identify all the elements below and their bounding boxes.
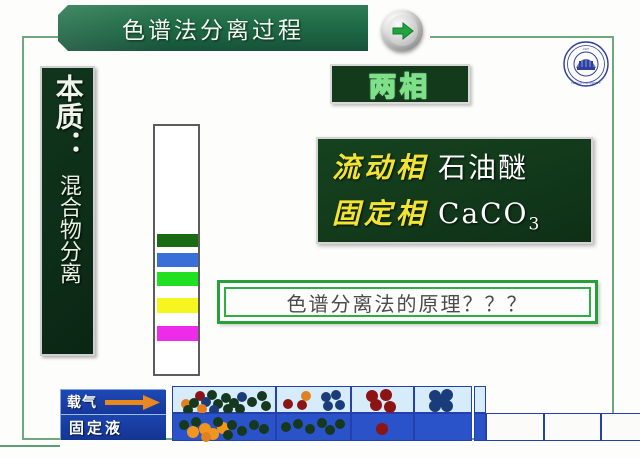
empty-cell-3: [486, 413, 544, 441]
phase-value-stationary: CaCO3: [438, 197, 541, 235]
next-slide-button[interactable]: [382, 10, 423, 51]
empty-cell-4: [544, 413, 601, 441]
essence-box: 本质： 混合物分离: [40, 66, 95, 356]
analyte-particle: [380, 389, 392, 401]
legend-stationary-liquid: 固定液: [61, 415, 166, 440]
phase-value-mobile: 石油醚: [438, 146, 528, 186]
legend-carrier-gas-label: 载气: [67, 392, 97, 412]
analyte-particle: [237, 392, 247, 402]
analyte-particle: [305, 424, 315, 434]
band-blue: [157, 253, 198, 267]
cell-3-mobile-phase: [351, 386, 414, 413]
two-phase-label: 两相: [369, 65, 431, 104]
svg-text:1907: 1907: [583, 47, 590, 51]
analyte-particle: [335, 419, 345, 429]
flow-arrow-icon: [105, 393, 161, 412]
next-button-face: [387, 15, 418, 46]
analyte-particle: [370, 399, 382, 411]
essence-body: 混合物分离: [55, 174, 80, 284]
seal-caption: TONGJI UNIVERSITY: [571, 81, 602, 85]
analyte-particle: [261, 401, 271, 411]
band-magenta: [157, 326, 198, 341]
university-seal-logo: 1907 TONGJI UNIVERSITY: [562, 40, 610, 88]
arrow-right-icon: [392, 21, 414, 41]
empty-cell-5: [601, 413, 640, 441]
legend-stationary-liquid-label: 固定液: [69, 417, 123, 438]
band-dark-green: [157, 234, 198, 247]
phase-row-mobile: 流动相 石油醚: [332, 146, 577, 186]
analyte-particle: [223, 430, 233, 440]
analyte-particle: [331, 390, 341, 400]
analyte-particle: [297, 400, 307, 410]
cell-3-stationary-phase: [351, 413, 414, 441]
analyte-particle: [249, 420, 259, 430]
essence-heading: 本质：: [53, 74, 82, 158]
phase-name-stationary: 固定相: [332, 192, 428, 232]
analyte-particle: [325, 425, 335, 435]
analyte-particle: [187, 426, 199, 438]
analyte-particle: [376, 423, 388, 435]
analyte-particle: [435, 395, 447, 407]
band-yellow: [157, 298, 198, 313]
analyte-particle: [227, 420, 237, 430]
band-bright-green: [157, 272, 198, 286]
legend-carrier-gas: 载气: [61, 390, 166, 415]
analyte-particle: [384, 401, 396, 413]
question-box: 色谱分离法的原理？？？: [217, 280, 598, 324]
phase-name-mobile: 流动相: [332, 146, 428, 186]
analyte-particle: [257, 391, 267, 401]
analyte-particle: [283, 399, 293, 409]
analyte-particle: [259, 424, 269, 434]
question-text: 色谱分离法的原理？？？: [287, 288, 529, 317]
analyte-particle: [213, 417, 223, 427]
analyte-particle: [293, 419, 303, 429]
analyte-particle: [323, 401, 333, 411]
cell-1-mobile-phase: [172, 386, 276, 413]
phases-board: 流动相 石油醚 固定相 CaCO3: [316, 137, 593, 244]
legend-block: 载气 固定液: [60, 389, 165, 439]
bottom-diagram: 载气 固定液: [0, 380, 640, 458]
analyte-particle: [237, 426, 247, 436]
cell-2-mobile-phase: [276, 386, 351, 413]
slide-frame-top-right-rule: [430, 36, 614, 38]
chromatography-column: [153, 124, 200, 376]
formula-base: CaCO: [438, 197, 529, 230]
baseline-rule: [0, 445, 60, 447]
analyte-particle: [335, 400, 345, 410]
two-phase-box: 两相: [330, 64, 470, 104]
question-box-inner: 色谱分离法的原理？？？: [224, 287, 591, 317]
analyte-particle: [281, 422, 291, 432]
cell-4-stationary-phase: [414, 413, 472, 441]
formula-subscript: 3: [529, 215, 542, 235]
empty-cell-2: [474, 413, 486, 441]
page-title: 色谱法分离过程: [58, 5, 368, 51]
analyte-particle: [247, 397, 257, 407]
cell-1-stationary-phase: [172, 413, 276, 441]
separation-cells: [172, 386, 592, 444]
cell-2-stationary-phase: [276, 413, 351, 441]
phase-row-stationary: 固定相 CaCO3: [332, 192, 577, 235]
analyte-particle: [201, 432, 211, 442]
cell-4-mobile-phase: [414, 386, 472, 413]
empty-cell-1: [474, 386, 486, 413]
